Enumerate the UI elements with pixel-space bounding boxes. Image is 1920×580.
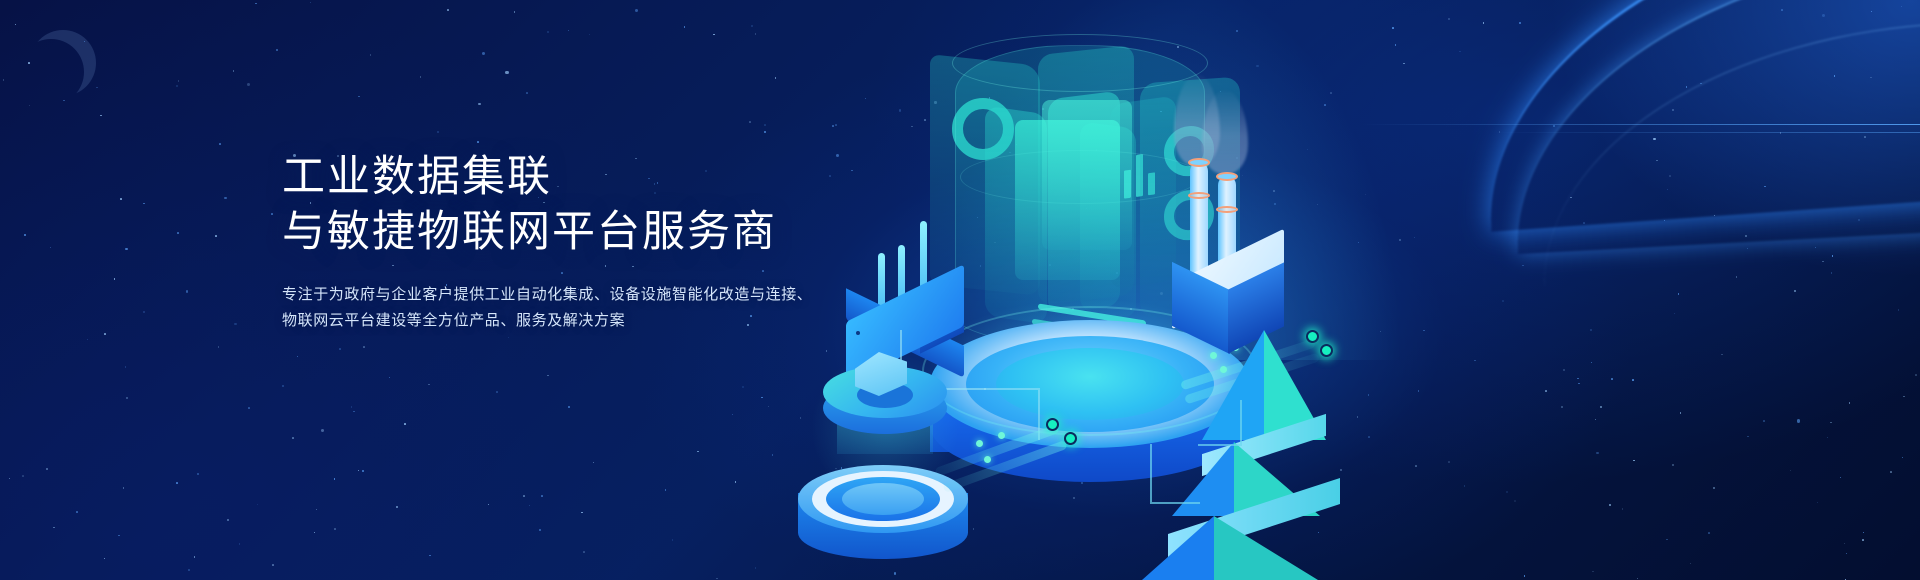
pyramid-tier-base-right — [1214, 516, 1318, 580]
fiber-pip-l3 — [984, 456, 991, 463]
stack-band-2 — [1216, 206, 1238, 213]
fiber-pip-l1 — [976, 440, 983, 447]
dome-pyramid-cable-2 — [1150, 444, 1200, 504]
router-led — [856, 331, 860, 335]
stack-cap-1 — [1188, 158, 1210, 167]
fiber-node-left-2 — [1064, 432, 1077, 445]
hologram-ring-top — [952, 34, 1208, 92]
hero-banner: 工业数据集联 与敏捷物联网平台服务商 专注于为政府与企业客户提供工业自动化集成、… — [0, 0, 1920, 580]
dome-pyramid-cable — [1198, 400, 1242, 446]
wifi-router — [842, 235, 1002, 345]
stack-band-1 — [1188, 192, 1210, 199]
iot-illustration — [780, 0, 1920, 580]
pyramid-tier-base-left — [1142, 516, 1214, 580]
fiber-pip-l2 — [998, 432, 1005, 439]
pyramid-stack — [1168, 330, 1408, 580]
fiber-node-left-1 — [1046, 418, 1059, 431]
smokestack-factory — [1172, 80, 1352, 340]
disc-platform — [798, 465, 968, 580]
disc-core — [842, 483, 924, 515]
crescent-moon-icon — [30, 30, 96, 96]
stack-cap-2 — [1216, 172, 1238, 181]
hologram-face-2 — [1042, 100, 1132, 250]
